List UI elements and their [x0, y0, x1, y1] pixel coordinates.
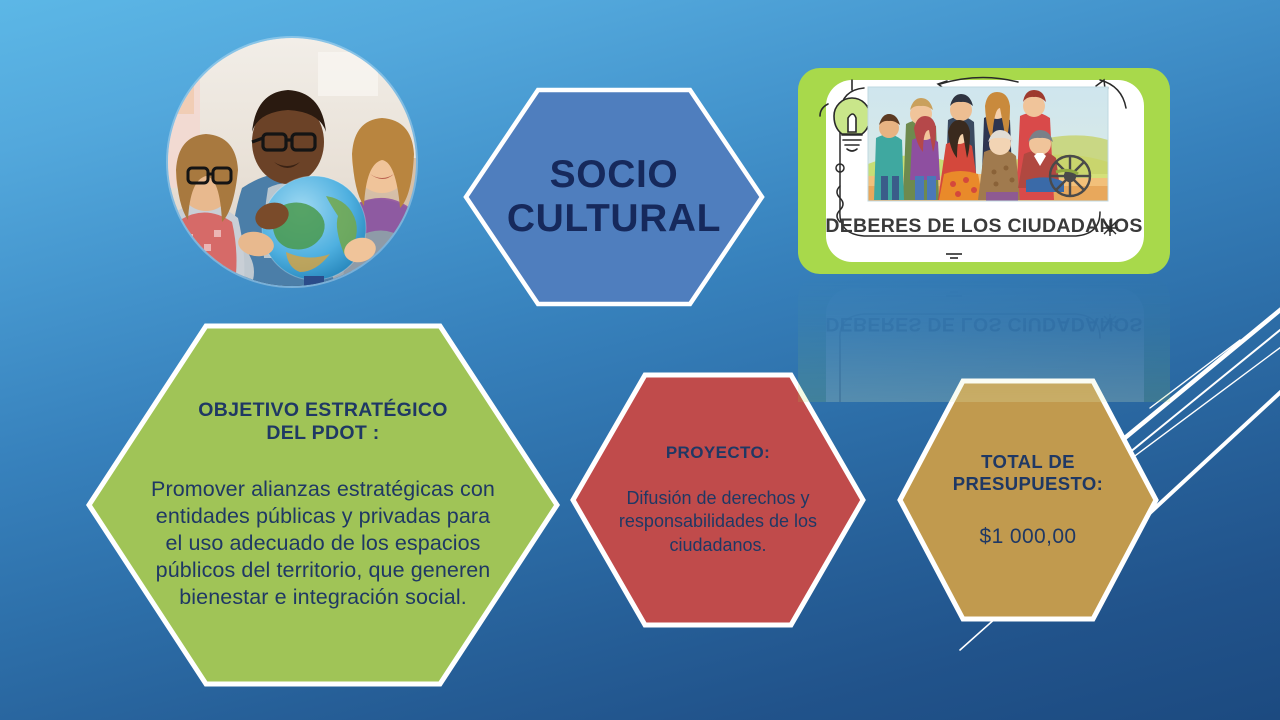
green-heading-line-1: OBJETIVO ESTRATÉGICO: [148, 399, 499, 422]
hexagon-objetivo-estrategico: OBJETIVO ESTRATÉGICO DEL PDOT : Promover…: [86, 323, 560, 687]
deco-line-4: [1150, 340, 1240, 408]
hexagon-socio-cultural: SOCIO CULTURAL: [462, 86, 766, 308]
deberes-de-los-ciudadanos-card: DEBERES DE LOS CIUDADANOS: [798, 68, 1170, 274]
teacher-and-children-photo: [168, 38, 416, 286]
red-body-text: Difusión de derechos y responsabilidades…: [597, 487, 840, 557]
deco-line-5: [1140, 388, 1280, 522]
wheelchair-icon: [1050, 156, 1090, 196]
title-line-1: SOCIO: [502, 153, 727, 197]
red-heading: PROYECTO:: [597, 443, 840, 463]
gold-heading-line-2: PRESUPUESTO:: [931, 473, 1125, 495]
hexagon-total-presupuesto: TOTAL DE PRESUPUESTO: $1 000,00: [897, 378, 1159, 622]
hexagon-proyecto: PROYECTO: Difusión de derechos y respons…: [570, 372, 866, 628]
star-doodle-icon: [1102, 220, 1118, 236]
gold-heading-line-1: TOTAL DE: [931, 451, 1125, 473]
slide-canvas: SOCIO CULTURAL OBJETIVO ESTRATÉGICO DEL …: [0, 0, 1280, 720]
green-heading-line-2: DEL PDOT :: [148, 422, 499, 445]
photo-illustration: [168, 38, 416, 286]
citizens-illustration: [868, 87, 1108, 201]
gold-amount: $1 000,00: [931, 525, 1125, 549]
card-caption: DEBERES DE LOS CIUDADANOS: [825, 215, 1142, 237]
green-body-text: Promover alianzas estratégicas con entid…: [148, 476, 499, 611]
svg-text:DEBERES DE LOS CIUDADANOS: DEBERES DE LOS CIUDADANOS: [825, 313, 1142, 335]
title-line-2: CULTURAL: [502, 197, 727, 241]
card-illustration: DEBERES DE LOS CIUDADANOS: [798, 68, 1170, 274]
